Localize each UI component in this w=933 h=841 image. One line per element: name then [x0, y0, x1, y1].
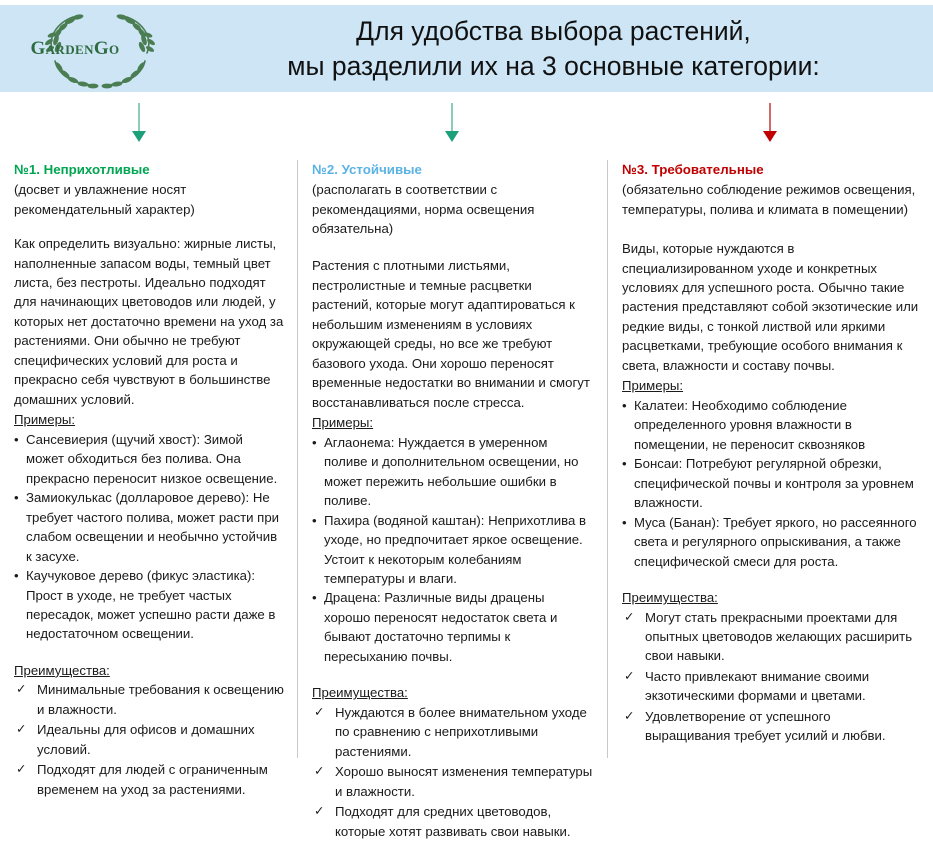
check-icon: ✓	[624, 608, 634, 626]
bullet-icon: •	[312, 511, 317, 530]
category-2-advantages-list: ✓Нуждаются в более внимательном уходе по…	[312, 703, 594, 841]
bullet-icon: •	[622, 454, 627, 473]
category-3-examples-list: •Калатеи: Необходимо соблюдение определе…	[622, 396, 919, 571]
arrow-down-icon-3	[763, 103, 777, 142]
category-3-body: Виды, которые нуждаются в специализирова…	[622, 239, 919, 746]
category-3-advantages-label: Преимущества:	[622, 588, 718, 607]
list-item-text: Хорошо выносят изменения температуры и в…	[335, 764, 592, 798]
category-1-advantages-label: Преимущества:	[14, 661, 110, 680]
list-item: •Аглаонема: Нуждается в умеренном поливе…	[312, 433, 594, 511]
category-1-advantages-list: ✓Минимальные требования к освещению и вл…	[14, 680, 284, 799]
list-item-text: Калатеи: Необходимо соблюдение определен…	[634, 398, 865, 452]
arrow-shaft	[451, 103, 453, 131]
arrow-shaft	[138, 103, 140, 131]
bullet-icon: •	[14, 488, 19, 507]
arrow-head	[132, 131, 146, 142]
list-item: ✓Часто привлекают внимание своими экзоти…	[622, 667, 919, 706]
list-item: ✓Хорошо выносят изменения температуры и …	[312, 762, 594, 801]
category-1-title: №1. Неприхотливые	[14, 160, 284, 179]
category-3-advantages-list: ✓Могут стать прекрасными проектами для о…	[622, 608, 919, 746]
list-item-text: Сансевиерия (щучий хвост): Зимой может о…	[26, 432, 277, 486]
arrow-down-icon-1	[132, 103, 146, 142]
list-item: •Бонсаи: Потребуют регулярной обрезки, с…	[622, 454, 919, 512]
category-column-1: №1. Неприхотливые (досвет и увлажнение н…	[0, 160, 298, 800]
check-icon: ✓	[16, 680, 26, 698]
list-item-text: Пахира (водяной каштан): Неприхотлива в …	[324, 513, 586, 586]
category-column-3: №3. Требовательные (обязательно соблюден…	[608, 160, 933, 800]
check-icon: ✓	[314, 703, 324, 721]
list-item-text: Каучуковое дерево (фикус эластика): Прос…	[26, 568, 275, 641]
list-item: ✓Удовлетворение от успешного выращивания…	[622, 707, 919, 746]
list-item-text: Бонсаи: Потребуют регулярной обрезки, сп…	[634, 456, 914, 510]
check-icon: ✓	[624, 707, 634, 725]
bullet-icon: •	[14, 430, 19, 449]
list-item: •Калатеи: Необходимо соблюдение определе…	[622, 396, 919, 454]
check-icon: ✓	[314, 802, 324, 820]
category-1-subtitle: (досвет и увлажнение носят рекомендатель…	[14, 180, 284, 219]
category-column-2: №2. Устойчивые (располагать в соответств…	[298, 160, 608, 800]
list-item: •Замиокулькас (долларовое дерево): Не тр…	[14, 488, 284, 566]
list-item-text: Могут стать прекрасными проектами для оп…	[645, 610, 912, 664]
list-item-text: Замиокулькас (долларовое дерево): Не тре…	[26, 490, 279, 563]
list-item-text: Муса (Банан): Требует яркого, но рассеян…	[634, 515, 917, 569]
list-item: ✓Нуждаются в более внимательном уходе по…	[312, 703, 594, 761]
list-item: ✓Подходят для средних цветоводов, которы…	[312, 802, 594, 841]
check-icon: ✓	[314, 762, 324, 780]
page-title-line-1: Для удобства выбора растений,	[200, 14, 907, 49]
category-1-examples-list: •Сансевиерия (щучий хвост): Зимой может …	[14, 430, 284, 644]
list-item: ✓Идеальны для офисов и домашних условий.	[14, 720, 284, 759]
category-1-body: Как определить визуально: жирные листы, …	[14, 234, 284, 799]
page-header: GardenGo Для удобства выбора растений, м…	[0, 5, 933, 92]
arrow-shaft	[769, 103, 771, 131]
category-3-examples-label: Примеры:	[622, 376, 683, 395]
arrow-head	[445, 131, 459, 142]
bullet-icon: •	[312, 588, 317, 607]
bullet-icon: •	[622, 513, 627, 532]
list-item-text: Идеальны для офисов и домашних условий.	[37, 722, 255, 756]
category-2-subtitle: (располагать в соответствии с рекомендац…	[312, 180, 594, 238]
category-1-description: Как определить визуально: жирные листы, …	[14, 234, 284, 409]
category-2-title: №2. Устойчивые	[312, 160, 594, 179]
category-3-description: Виды, которые нуждаются в специализирова…	[622, 239, 919, 375]
category-2-examples-label: Примеры:	[312, 413, 373, 432]
list-item: ✓Могут стать прекрасными проектами для о…	[622, 608, 919, 666]
check-icon: ✓	[16, 720, 26, 738]
category-2-description: Растения с плотными листьями, пестролист…	[312, 256, 594, 412]
bullet-icon: •	[312, 433, 317, 452]
list-item: •Муса (Банан): Требует яркого, но рассея…	[622, 513, 919, 571]
brand-logo: GardenGo	[0, 5, 200, 92]
list-item-text: Часто привлекают внимание своими экзотич…	[645, 669, 869, 703]
list-item: •Каучуковое дерево (фикус эластика): Про…	[14, 566, 284, 644]
list-item: •Пахира (водяной каштан): Неприхотлива в…	[312, 511, 594, 589]
category-1-examples-label: Примеры:	[14, 410, 75, 429]
list-item: ✓Подходят для людей с ограниченным време…	[14, 760, 284, 799]
check-icon: ✓	[16, 760, 26, 778]
list-item-text: Нуждаются в более внимательном уходе по …	[335, 705, 587, 759]
category-2-advantages-label: Преимущества:	[312, 683, 408, 702]
bullet-icon: •	[622, 396, 627, 415]
list-item-text: Аглаонема: Нуждается в умеренном поливе …	[324, 435, 579, 508]
page-title-line-2: мы разделили их на 3 основные категории:	[200, 49, 907, 84]
category-2-body: Растения с плотными листьями, пестролист…	[312, 256, 594, 841]
bullet-icon: •	[14, 566, 19, 585]
page-title: Для удобства выбора растений, мы раздели…	[200, 14, 933, 84]
category-columns: №1. Неприхотливые (досвет и увлажнение н…	[0, 160, 933, 800]
list-item: •Драцена: Различные виды драцены хорошо …	[312, 588, 594, 666]
list-item-text: Удовлетворение от успешного выращивания …	[645, 709, 886, 743]
category-3-subtitle: (обязательно соблюдение режимов освещени…	[622, 180, 919, 219]
list-item: •Сансевиерия (щучий хвост): Зимой может …	[14, 430, 284, 488]
check-icon: ✓	[624, 667, 634, 685]
category-2-examples-list: •Аглаонема: Нуждается в умеренном поливе…	[312, 433, 594, 667]
list-item: ✓Минимальные требования к освещению и вл…	[14, 680, 284, 719]
arrow-head	[763, 131, 777, 142]
list-item-text: Драцена: Различные виды драцены хорошо п…	[324, 590, 557, 663]
category-3-title: №3. Требовательные	[622, 160, 919, 179]
list-item-text: Подходят для людей с ограниченным времен…	[37, 762, 268, 796]
arrow-down-icon-2	[445, 103, 459, 142]
list-item-text: Подходят для средних цветоводов, которые…	[335, 804, 571, 838]
brand-logo-text: GardenGo	[0, 38, 150, 60]
list-item-text: Минимальные требования к освещению и вла…	[37, 682, 284, 716]
